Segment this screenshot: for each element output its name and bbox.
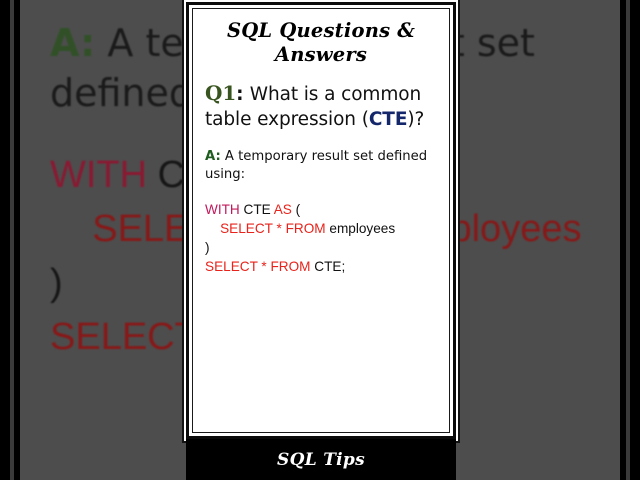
- sql-open-paren: (: [292, 202, 300, 217]
- question-block: Q1: What is a common table expression (C…: [205, 81, 437, 132]
- background-ghost-code-keyword: WITH: [50, 154, 147, 196]
- bottom-banner-label: SQL Tips: [277, 450, 365, 470]
- sql-keyword-select-from-1: SELECT * FROM: [220, 221, 326, 236]
- background-frame-bar-outer-right: [630, 0, 640, 480]
- sql-cte-name: CTE: [240, 202, 274, 217]
- answer-label: A:: [205, 149, 221, 164]
- question-text-after: )?: [407, 109, 424, 130]
- sql-close-paren: ): [205, 240, 210, 255]
- content-card-inner: SQL Questions & Answers Q1: What is a co…: [192, 8, 450, 433]
- sql-keyword-as: AS: [274, 202, 292, 217]
- sql-line2-indent: [205, 221, 220, 236]
- bottom-banner: SQL Tips: [186, 439, 456, 480]
- answer-block: A: A temporary result set defined using:: [205, 148, 437, 184]
- sql-keyword-with: WITH: [205, 202, 240, 217]
- answer-text: A temporary result set defined using:: [205, 149, 427, 182]
- background-frame-bar-inner-left: [14, 0, 20, 480]
- sql-table-employees: employees: [326, 221, 396, 236]
- background-frame-bar-outer-left: [0, 0, 10, 480]
- background-ghost-answer-label: A:: [50, 21, 95, 65]
- sql-table-cte: CTE;: [311, 259, 346, 274]
- content-card: SQL Questions & Answers Q1: What is a co…: [186, 2, 456, 439]
- screenshot-stage: common table expression (CTE)? A: A temp…: [0, 0, 640, 480]
- sql-code-block: WITH CTE AS ( SELECT * FROM employees ) …: [205, 200, 437, 276]
- question-number-label: Q1: [205, 81, 236, 105]
- sql-keyword-select-from-2: SELECT * FROM: [205, 259, 311, 274]
- question-colon: :: [236, 84, 250, 105]
- background-ghost-code-line3: ): [50, 262, 63, 304]
- content-card-wrapper: SQL Questions & Answers Q1: What is a co…: [186, 0, 456, 480]
- page-title: SQL Questions & Answers: [205, 19, 437, 67]
- question-highlight-term: CTE: [369, 109, 408, 130]
